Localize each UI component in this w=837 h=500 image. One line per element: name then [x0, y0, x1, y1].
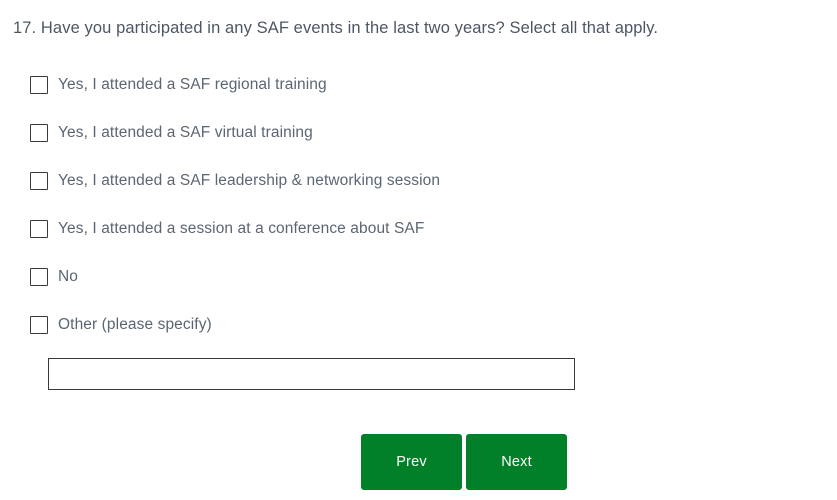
other-specify-input[interactable] [48, 358, 575, 390]
option-label-saf-leadership-networking[interactable]: Yes, I attended a SAF leadership & netwo… [58, 164, 440, 198]
option-row-saf-virtual-training[interactable]: Yes, I attended a SAF virtual training [0, 116, 837, 164]
option-row-saf-conference-session[interactable]: Yes, I attended a session at a conferenc… [0, 212, 837, 260]
checkbox-icon-saf-regional-training[interactable] [30, 76, 48, 94]
navigation-button-group: Prev Next [361, 434, 567, 490]
option-row-saf-regional-training[interactable]: Yes, I attended a SAF regional training [0, 68, 837, 116]
next-button[interactable]: Next [466, 434, 567, 490]
question-prompt: 17. Have you participated in any SAF eve… [13, 16, 658, 40]
option-row-saf-leadership-networking[interactable]: Yes, I attended a SAF leadership & netwo… [0, 164, 837, 212]
checkbox-icon-other[interactable] [30, 316, 48, 334]
checkbox-icon-saf-conference-session[interactable] [30, 220, 48, 238]
prev-button[interactable]: Prev [361, 434, 462, 490]
option-label-no[interactable]: No [58, 260, 78, 294]
checkbox-icon-saf-leadership-networking[interactable] [30, 172, 48, 190]
option-row-other[interactable]: Other (please specify) [0, 308, 837, 356]
checkbox-icon-no[interactable] [30, 268, 48, 286]
option-label-saf-virtual-training[interactable]: Yes, I attended a SAF virtual training [58, 116, 313, 150]
option-label-saf-regional-training[interactable]: Yes, I attended a SAF regional training [58, 68, 327, 102]
checkbox-options-list: Yes, I attended a SAF regional training … [0, 68, 837, 356]
option-row-no[interactable]: No [0, 260, 837, 308]
survey-question-page: 17. Have you participated in any SAF eve… [0, 0, 837, 500]
option-label-other[interactable]: Other (please specify) [58, 308, 212, 342]
checkbox-icon-saf-virtual-training[interactable] [30, 124, 48, 142]
option-label-saf-conference-session[interactable]: Yes, I attended a session at a conferenc… [58, 212, 424, 246]
